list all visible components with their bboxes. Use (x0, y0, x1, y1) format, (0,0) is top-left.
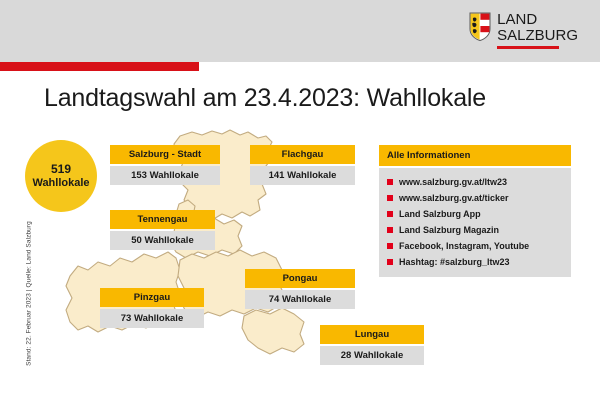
info-list-item[interactable]: www.salzburg.gv.at/ticker (387, 193, 563, 203)
info-list-item[interactable]: Land Salzburg App (387, 209, 563, 219)
district-name: Pongau (245, 269, 355, 288)
square-bullet-icon (387, 179, 393, 185)
district-name: Salzburg - Stadt (110, 145, 220, 164)
land-salzburg-logo: LAND SALZBURG (469, 12, 578, 49)
square-bullet-icon (387, 211, 393, 217)
square-bullet-icon (387, 195, 393, 201)
district-name: Tennengau (110, 210, 215, 229)
district-name: Flachgau (250, 145, 355, 164)
district-value: 50 Wahllokale (110, 231, 215, 250)
logo-line-land: LAND (497, 12, 578, 27)
callout-flachgau: Flachgau 141 Wahllokale (250, 145, 355, 185)
info-panel-body: www.salzburg.gv.at/ltw23 www.salzburg.gv… (379, 168, 571, 277)
info-item-text: www.salzburg.gv.at/ltw23 (399, 177, 507, 187)
info-list-item[interactable]: Facebook, Instagram, Youtube (387, 241, 563, 251)
callout-pinzgau: Pinzgau 73 Wahllokale (100, 288, 204, 328)
header-red-accent-bar (0, 62, 199, 71)
map-region-lungau (242, 308, 304, 354)
district-value: 28 Wahllokale (320, 346, 424, 365)
info-panel: Alle Informationen www.salzburg.gv.at/lt… (379, 145, 571, 277)
district-value: 141 Wahllokale (250, 166, 355, 185)
callout-pongau: Pongau 74 Wahllokale (245, 269, 355, 309)
source-credit: Stand: 22. Februar 2023 | Quelle: Land S… (26, 209, 33, 379)
district-value: 73 Wahllokale (100, 309, 204, 328)
info-list-item[interactable]: Land Salzburg Magazin (387, 225, 563, 235)
info-item-text: Hashtag: #salzburg_ltw23 (399, 257, 510, 267)
infographic-page: LAND SALZBURG Landtagswahl am 23.4.2023:… (0, 0, 600, 400)
district-name: Lungau (320, 325, 424, 344)
info-item-text: Land Salzburg Magazin (399, 225, 499, 235)
info-item-text: Land Salzburg App (399, 209, 481, 219)
square-bullet-icon (387, 227, 393, 233)
page-title: Landtagswahl am 23.4.2023: Wahllokale (44, 84, 486, 113)
square-bullet-icon (387, 243, 393, 249)
logo-wordmark: LAND SALZBURG (497, 12, 578, 49)
callout-tennengau: Tennengau 50 Wahllokale (110, 210, 215, 250)
info-item-text: Facebook, Instagram, Youtube (399, 241, 529, 251)
info-item-text: www.salzburg.gv.at/ticker (399, 193, 509, 203)
district-name: Pinzgau (100, 288, 204, 307)
logo-line-salzburg: SALZBURG (497, 28, 578, 43)
square-bullet-icon (387, 259, 393, 265)
district-value: 74 Wahllokale (245, 290, 355, 309)
district-value: 153 Wahllokale (110, 166, 220, 185)
info-list-item[interactable]: Hashtag: #salzburg_ltw23 (387, 257, 563, 267)
salzburg-coat-of-arms-icon (469, 12, 491, 41)
info-list-item[interactable]: www.salzburg.gv.at/ltw23 (387, 177, 563, 187)
callout-salzburg-stadt: Salzburg - Stadt 153 Wahllokale (110, 145, 220, 185)
info-panel-heading: Alle Informationen (379, 145, 571, 166)
callout-lungau: Lungau 28 Wahllokale (320, 325, 424, 365)
logo-underline (497, 46, 559, 49)
